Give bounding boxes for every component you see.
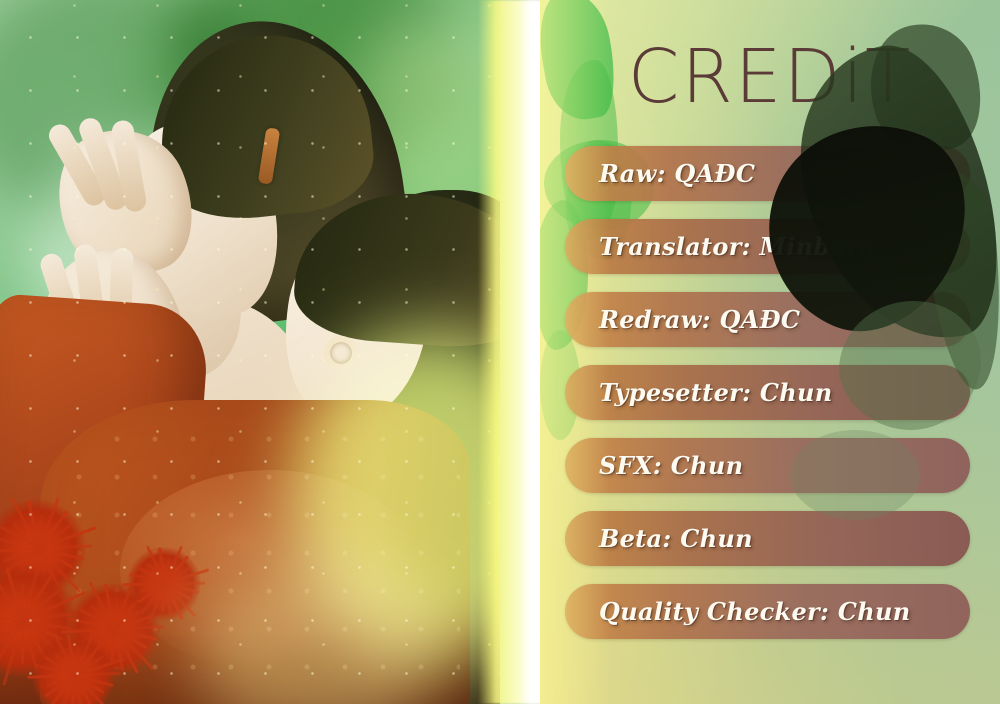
credit-row: SFX: Chun <box>565 438 970 493</box>
credit-row: Beta: Chun <box>565 511 970 566</box>
credit-row: Typesetter: Chun <box>565 365 970 420</box>
credit-row: Raw: QAĐC <box>565 146 970 201</box>
credit-row: Quality Checker: Chun <box>565 584 970 639</box>
credit-row-label: Raw: QAĐC <box>599 159 755 188</box>
credit-row-label: Beta: Chun <box>599 524 753 553</box>
page-title-text: CREDiT <box>628 40 913 114</box>
credits-page: CREDiT Raw: QAĐCTranslator: MinboraRedra… <box>0 0 1000 704</box>
credit-row-label: Translator: Minbora <box>599 232 876 261</box>
page-title: CREDiT <box>540 40 1000 114</box>
credit-row-label: Quality Checker: Chun <box>599 597 910 626</box>
credit-row-label: Typesetter: Chun <box>599 378 833 407</box>
credit-row: Translator: Minbora <box>565 219 970 274</box>
credit-row-label: Redraw: QAĐC <box>599 305 800 334</box>
credit-row: Redraw: QAĐC <box>565 292 970 347</box>
credit-row-label: SFX: Chun <box>599 451 743 480</box>
